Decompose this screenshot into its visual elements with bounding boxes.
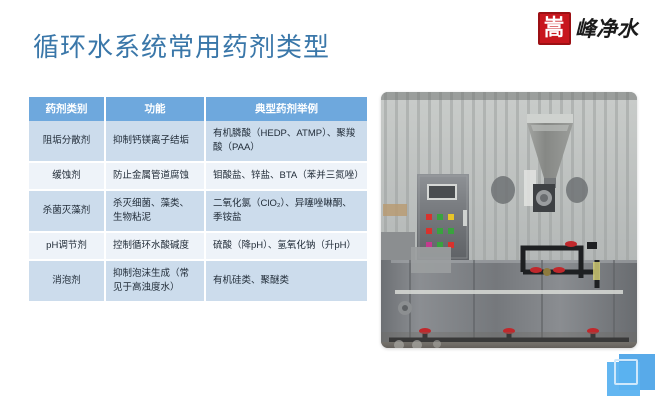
cell-category: 缓蚀剂 [29, 162, 105, 190]
table-row: 消泡剂 抑制泡沫生成（常见于高浊度水） 有机硅类、聚醚类 [29, 260, 367, 302]
cell-category: 消泡剂 [29, 260, 105, 302]
column-header-function: 功能 [105, 97, 205, 121]
cell-examples: 有机硅类、聚醚类 [205, 260, 367, 302]
seal-icon: 嵩 [538, 12, 571, 45]
cell-function: 抑制钙镁离子结垢 [105, 121, 205, 162]
decorative-squares [605, 354, 657, 398]
cell-examples: 二氧化氯（ClO₂）、异噻唑啉酮、季铵盐 [205, 190, 367, 232]
column-header-category: 药剂类别 [29, 97, 105, 121]
table-row: pH调节剂 控制循环水酸碱度 硫酸（降pH）、氢氧化钠（升pH） [29, 232, 367, 260]
column-header-examples: 典型药剂举例 [205, 97, 367, 121]
cell-category: 阻垢分散剂 [29, 121, 105, 162]
agent-table: 药剂类别 功能 典型药剂举例 阻垢分散剂 抑制钙镁离子结垢 有机膦酸（HEDP、… [29, 97, 367, 303]
equipment-photo [381, 92, 637, 348]
table-row: 杀菌灭藻剂 杀灭细菌、藻类、生物粘泥 二氧化氯（ClO₂）、异噻唑啉酮、季铵盐 [29, 190, 367, 232]
decorative-square-outline [614, 359, 638, 385]
table-row: 缓蚀剂 防止金属管道腐蚀 钼酸盐、锌盐、BTA（苯并三氮唑） [29, 162, 367, 190]
cell-examples: 硫酸（降pH）、氢氧化钠（升pH） [205, 232, 367, 260]
logo-wordmark: 峰净水 [575, 18, 638, 39]
table-row: 阻垢分散剂 抑制钙镁离子结垢 有机膦酸（HEDP、ATMP）、聚羧酸（PAA） [29, 121, 367, 162]
agent-table-container: 药剂类别 功能 典型药剂举例 阻垢分散剂 抑制钙镁离子结垢 有机膦酸（HEDP、… [29, 97, 367, 303]
slide-canvas: 嵩 峰净水 循环水系统常用药剂类型 药剂类别 功能 典型药剂举例 阻垢分散剂 抑… [0, 0, 660, 400]
cell-examples: 钼酸盐、锌盐、BTA（苯并三氮唑） [205, 162, 367, 190]
cell-category: pH调节剂 [29, 232, 105, 260]
cell-function: 控制循环水酸碱度 [105, 232, 205, 260]
equipment-photo-illustration [381, 92, 637, 348]
page-title: 循环水系统常用药剂类型 [33, 30, 330, 64]
table-header-row: 药剂类别 功能 典型药剂举例 [29, 97, 367, 121]
cell-function: 防止金属管道腐蚀 [105, 162, 205, 190]
cell-function: 杀灭细菌、藻类、生物粘泥 [105, 190, 205, 232]
cell-examples: 有机膦酸（HEDP、ATMP）、聚羧酸（PAA） [205, 121, 367, 162]
cell-category: 杀菌灭藻剂 [29, 190, 105, 232]
seal-character: 嵩 [544, 17, 564, 39]
company-logo: 嵩 峰净水 [538, 8, 646, 48]
cell-function: 抑制泡沫生成（常见于高浊度水） [105, 260, 205, 302]
